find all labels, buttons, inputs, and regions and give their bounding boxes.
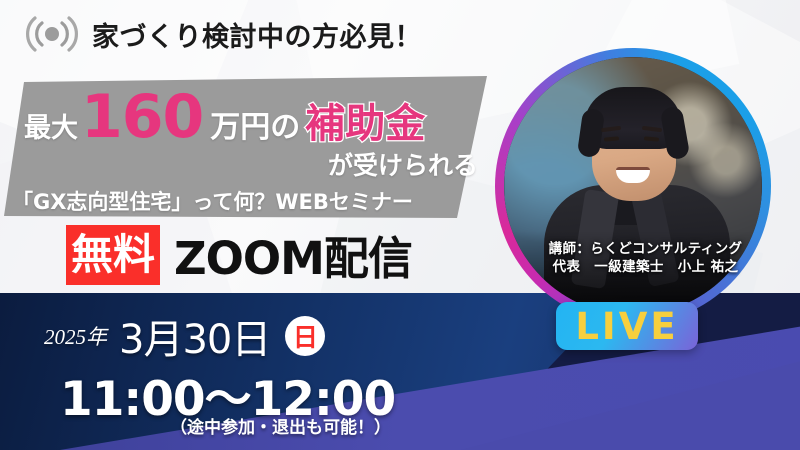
participation-note: （途中参加・退出も可能！） bbox=[170, 413, 391, 438]
banner-line-1: 最大 160 万円の 補助金 bbox=[24, 90, 425, 149]
poster-canvas: 家づくり検討中の方必見！ 最大 160 万円の 補助金 が受けられる 「GX志向… bbox=[0, 0, 800, 450]
free-badge: 無料 bbox=[66, 225, 160, 285]
banner-line-2: が受けられる bbox=[328, 146, 478, 182]
live-badge-label: LIVE bbox=[575, 308, 678, 345]
date-row: 2025年 3月30日 日 bbox=[44, 307, 325, 365]
banner-subsidy-word: 補助金 bbox=[305, 91, 425, 149]
delivery-row: 無料 ZOOM配信 bbox=[66, 222, 412, 287]
speaker-portrait bbox=[495, 48, 771, 324]
banner-amount: 160 bbox=[81, 90, 203, 144]
zoom-channel-label: ZOOM配信 bbox=[174, 222, 412, 287]
broadcast-radio-icon bbox=[26, 14, 78, 54]
speaker-credit-line-2: 代表 一級建築士 小上 祐之 bbox=[508, 258, 783, 276]
banner-prefix: 最大 bbox=[24, 106, 78, 145]
speaker-credit-line-1: 講師：らくどコンサルティング bbox=[508, 240, 783, 258]
live-badge: LIVE bbox=[556, 302, 698, 350]
subsidy-banner: 最大 160 万円の 補助金 が受けられる 「GX志向型住宅」って何？WEBセミ… bbox=[0, 76, 500, 218]
header-title: 家づくり検討中の方必見！ bbox=[92, 15, 422, 54]
banner-unit: 万円の bbox=[210, 102, 300, 146]
speaker-credit: 講師：らくどコンサルティング 代表 一級建築士 小上 祐之 bbox=[508, 240, 783, 276]
year-label: 2025年 bbox=[44, 321, 107, 351]
banner-line-3: 「GX志向型住宅」って何？WEBセミナー bbox=[12, 186, 413, 216]
day-of-week-badge: 日 bbox=[285, 316, 325, 356]
date-label: 3月30日 bbox=[119, 307, 270, 365]
header: 家づくり検討中の方必見！ bbox=[26, 14, 422, 54]
